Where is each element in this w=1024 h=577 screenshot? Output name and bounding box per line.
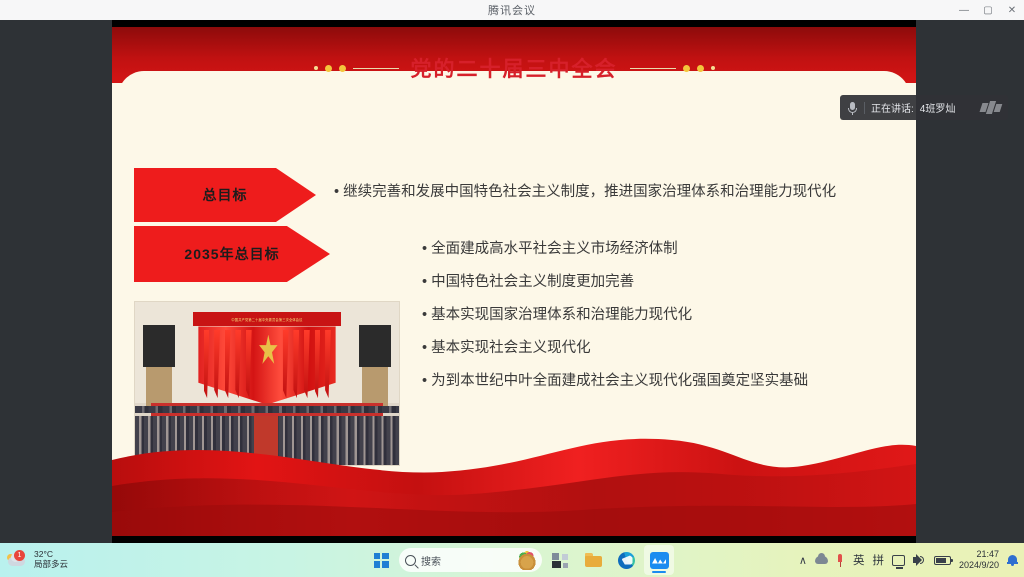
list-item: • 基本实现国家治理体系和治理能力现代化: [422, 303, 892, 324]
volume-icon[interactable]: [913, 554, 926, 566]
title-decoration-right: [630, 65, 715, 72]
taskbar-app-widgets[interactable]: [545, 545, 575, 575]
widgets-icon: [552, 553, 568, 568]
slide-title-row: 党的二十届三中全会: [112, 51, 916, 85]
start-button[interactable]: [366, 545, 396, 575]
presentation-slide: 党的二十届三中全会 总目标 2035年总目标 • 继续完善和发展中国特色社会主义…: [112, 27, 916, 536]
window-controls: — ▢ ✕: [952, 0, 1024, 20]
gold-dot-icon: [339, 65, 346, 72]
meeting-app-body: 党的二十届三中全会 总目标 2035年总目标 • 继续完善和发展中国特色社会主义…: [0, 20, 1024, 543]
taskbar-app-edge[interactable]: [611, 545, 641, 575]
bell-icon[interactable]: [1007, 554, 1018, 566]
divider: [864, 102, 865, 114]
gold-dot-icon: [697, 65, 704, 72]
slide-title: 党的二十届三中全会: [411, 53, 618, 83]
window-title-bar: 腾讯会议 — ▢ ✕: [0, 0, 1024, 20]
search-placeholder: 搜索: [421, 553, 441, 568]
divider-line: [630, 68, 676, 69]
maximize-button[interactable]: ▢: [976, 0, 1000, 20]
ime-pinyin-indicator[interactable]: 拼: [872, 552, 884, 568]
search-icon: [405, 555, 416, 566]
photo-banner: 中国共产党第二十届中央委员会第三次全体会议: [193, 312, 341, 327]
battery-icon[interactable]: [934, 556, 951, 565]
edge-icon: [618, 552, 635, 569]
list-item: • 中国特色社会主义制度更加完善: [422, 270, 892, 291]
slide-red-ribbon: [112, 416, 916, 536]
ime-language-indicator[interactable]: 英: [853, 552, 865, 568]
pin-icon[interactable]: [836, 554, 845, 567]
taskbar-app-tencent-meeting[interactable]: [644, 545, 674, 575]
clock-time: 21:47: [959, 549, 999, 560]
weather-partly-cloudy-icon: 1: [6, 550, 30, 570]
speaking-label: 正在讲话:: [871, 100, 914, 115]
divider-line: [353, 68, 399, 69]
clock-date: 2024/9/20: [959, 560, 999, 571]
tencent-meeting-icon: [650, 552, 669, 569]
close-button[interactable]: ✕: [1000, 0, 1024, 20]
list-item: • 为到本世纪中叶全面建成社会主义现代化强国奠定坚实基础: [422, 369, 892, 390]
taskbar-app-file-explorer[interactable]: [578, 545, 608, 575]
screen: 腾讯会议 — ▢ ✕ 党的二十届三中全会: [0, 0, 1024, 577]
system-tray: ∧ 英 拼 21:47 2024/9/20: [799, 543, 1024, 577]
taskbar-search-box[interactable]: 搜索: [399, 548, 542, 572]
title-decoration-left: [314, 65, 399, 72]
cloud-sync-icon[interactable]: [815, 556, 828, 564]
audio-wave-icon: [981, 101, 1001, 114]
list-item: • 全面建成高水平社会主义市场经济体制: [422, 237, 892, 258]
minimize-button[interactable]: —: [952, 0, 976, 20]
windows-taskbar: 1 32°C 局部多云 搜索: [0, 543, 1024, 577]
gold-dot-icon: [325, 65, 332, 72]
slide-bullet-list: • 全面建成高水平社会主义市场经济体制 • 中国特色社会主义制度更加完善 • 基…: [422, 237, 892, 402]
notification-badge: 1: [14, 550, 25, 561]
taskbar-center-group: 搜索: [366, 543, 674, 577]
active-speaker-overlay: 正在讲话: 4班罗灿: [840, 95, 1008, 120]
arrow-shape-2035-goal: 2035年总目标: [134, 226, 330, 282]
gold-dot-icon: [711, 66, 715, 70]
taskbar-weather-widget[interactable]: 1 32°C 局部多云: [0, 550, 150, 570]
microphone-icon: [847, 101, 858, 115]
arrow-label: 总目标: [203, 185, 248, 205]
slide-headline: • 继续完善和发展中国特色社会主义制度，推进国家治理体系和治理能力现代化: [334, 182, 899, 202]
gold-dot-icon: [314, 66, 318, 70]
gold-dot-icon: [683, 65, 690, 72]
weather-condition: 局部多云: [34, 560, 68, 570]
taskbar-clock[interactable]: 21:47 2024/9/20: [959, 549, 999, 571]
search-thumbnail-image: [516, 550, 538, 570]
window-title: 腾讯会议: [488, 2, 536, 18]
arrow-label: 2035年总目标: [184, 244, 279, 264]
windows-start-icon: [374, 553, 389, 568]
show-hidden-icons-button[interactable]: ∧: [799, 554, 807, 567]
arrow-shape-overall-goal: 总目标: [134, 168, 316, 222]
active-app-indicator: [652, 571, 666, 573]
network-icon[interactable]: [892, 555, 905, 566]
photo-banner-text: 中国共产党第二十届中央委员会第三次全体会议: [231, 317, 302, 322]
folder-icon: [585, 553, 602, 567]
speaker-name: 4班罗灿: [920, 100, 956, 115]
list-item: • 基本实现社会主义现代化: [422, 336, 892, 357]
